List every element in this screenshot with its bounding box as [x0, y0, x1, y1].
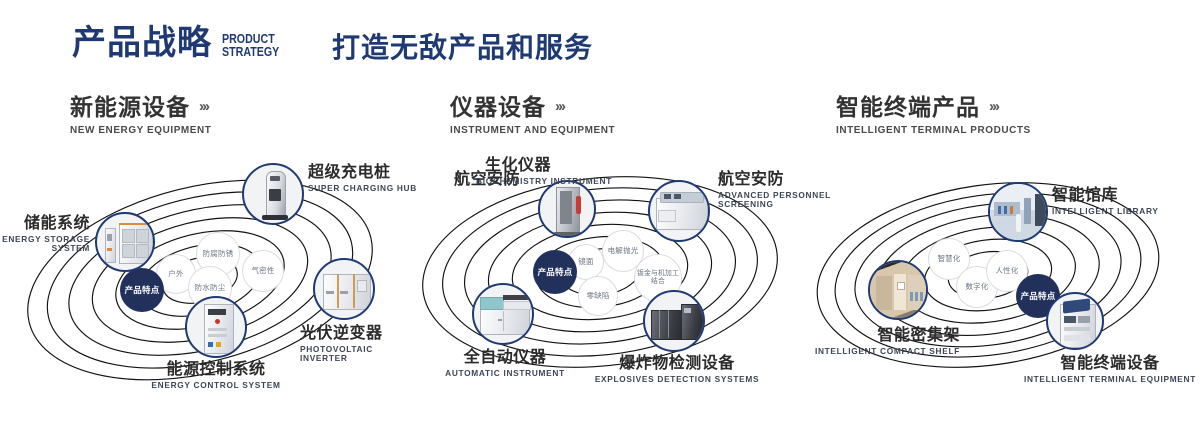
- node-energy-storage-system[interactable]: [95, 212, 155, 272]
- feature-bubble: 气密性: [242, 250, 284, 292]
- photo-advanced-personnel-screening: [650, 182, 708, 240]
- photo-explosives-detection-systems: [645, 292, 703, 350]
- center-bubble-product-features: 产品特点: [533, 250, 577, 294]
- label-automatic-instrument: 全自动仪器 AUTOMATIC INSTRUMENT: [415, 350, 595, 378]
- section-title-new-energy: 新能源设备 ››› NEW ENERGY EQUIPMENT: [70, 95, 219, 136]
- photo-super-charging-hub: [244, 165, 302, 223]
- label-biochemistry-instrument: 生化仪器 BIOCHEMISTRY INSTRUMENT: [428, 158, 608, 186]
- node-intelligent-compact-shelf[interactable]: [868, 260, 928, 320]
- node-biochemistry-instrument[interactable]: [538, 180, 596, 238]
- section-title-instrument: 仪器设备 ››› INSTRUMENT AND EQUIPMENT: [450, 95, 624, 136]
- node-advanced-personnel-screening[interactable]: [648, 180, 710, 242]
- node-explosives-detection-systems[interactable]: [643, 290, 705, 352]
- section-title-cn: 智能终端产品: [836, 95, 980, 120]
- label-energy-control-system: 能源控制系统 ENERGY CONTROL SYSTEM: [106, 362, 326, 390]
- section-title-intelligent-terminal: 智能终端产品 ››› INTELLIGENT TERMINAL PRODUCTS: [836, 95, 1041, 136]
- chevron-right-icon: ›››: [555, 99, 564, 116]
- section-title-en: INSTRUMENT AND EQUIPMENT: [450, 124, 615, 136]
- cluster-instrument: 镜面 电解抛光 钣金与机加工结合 零缺陷 产品特点 航空安防 生化仪器 BIOC…: [400, 150, 800, 410]
- section-title-en: INTELLIGENT TERMINAL PRODUCTS: [836, 124, 1031, 136]
- cluster-intelligent-terminal: 智慧化 数字化 人性化 产品特点 智能馆库 INTELLIGENT LIBRAR…: [800, 150, 1200, 410]
- brand-title: 产品战略 PRODUCT STRATEGY: [72, 26, 292, 60]
- node-super-charging-hub[interactable]: [242, 163, 304, 225]
- photo-intelligent-compact-shelf: [870, 262, 926, 318]
- chevron-right-icon: ›››: [989, 99, 998, 116]
- label-intelligent-library: 智能馆库 INTELLIGENT LIBRARY: [1052, 188, 1182, 216]
- node-photovoltaic-inverter[interactable]: [313, 258, 375, 320]
- section-title-cn: 新能源设备: [70, 95, 190, 120]
- photo-energy-control-system: [187, 298, 245, 356]
- section-title-en: NEW ENERGY EQUIPMENT: [70, 124, 211, 136]
- photo-automatic-instrument: [474, 285, 532, 343]
- photo-energy-storage-system: [97, 214, 153, 270]
- node-intelligent-library[interactable]: [988, 182, 1048, 242]
- node-energy-control-system[interactable]: [185, 296, 247, 358]
- cluster-new-energy: 户外 防腐防锈 防水防尘 气密性 产品特点 储能系统 ENERGY STORAG…: [0, 150, 400, 410]
- section-title-cn: 仪器设备: [450, 95, 546, 120]
- brand-title-en-line2: STRATEGY: [222, 45, 279, 58]
- photo-biochemistry-instrument: [540, 182, 594, 236]
- photo-photovoltaic-inverter: [315, 260, 373, 318]
- center-bubble-product-features: 产品特点: [120, 268, 164, 312]
- label-explosives-detection-systems: 爆炸物检测设备 EXPLOSIVES DETECTION SYSTEMS: [582, 356, 772, 384]
- photo-intelligent-terminal-equipment: [1048, 294, 1102, 348]
- product-strategy-infographic: 产品战略 PRODUCT STRATEGY 打造无敌产品和服务 新能源设备 ››…: [0, 0, 1200, 422]
- node-intelligent-terminal-equipment[interactable]: [1046, 292, 1104, 350]
- page-headline: 打造无敌产品和服务: [332, 34, 593, 62]
- photo-intelligent-library: [990, 184, 1046, 240]
- label-intelligent-terminal-equipment: 智能终端设备 INTELLIGENT TERMINAL EQUIPMENT: [1020, 356, 1200, 384]
- label-energy-storage-system: 储能系统 ENERGY STORAGE SYSTEM: [0, 216, 90, 252]
- node-automatic-instrument[interactable]: [472, 283, 534, 345]
- brand-title-en: PRODUCT STRATEGY: [222, 32, 279, 58]
- chevron-right-icon: ›››: [199, 99, 208, 116]
- label-intelligent-compact-shelf: 智能密集架 INTELLIGENT COMPACT SHELF: [770, 328, 960, 356]
- brand-title-cn: 产品战略: [72, 26, 212, 60]
- feature-bubble: 零缺陷: [578, 276, 618, 316]
